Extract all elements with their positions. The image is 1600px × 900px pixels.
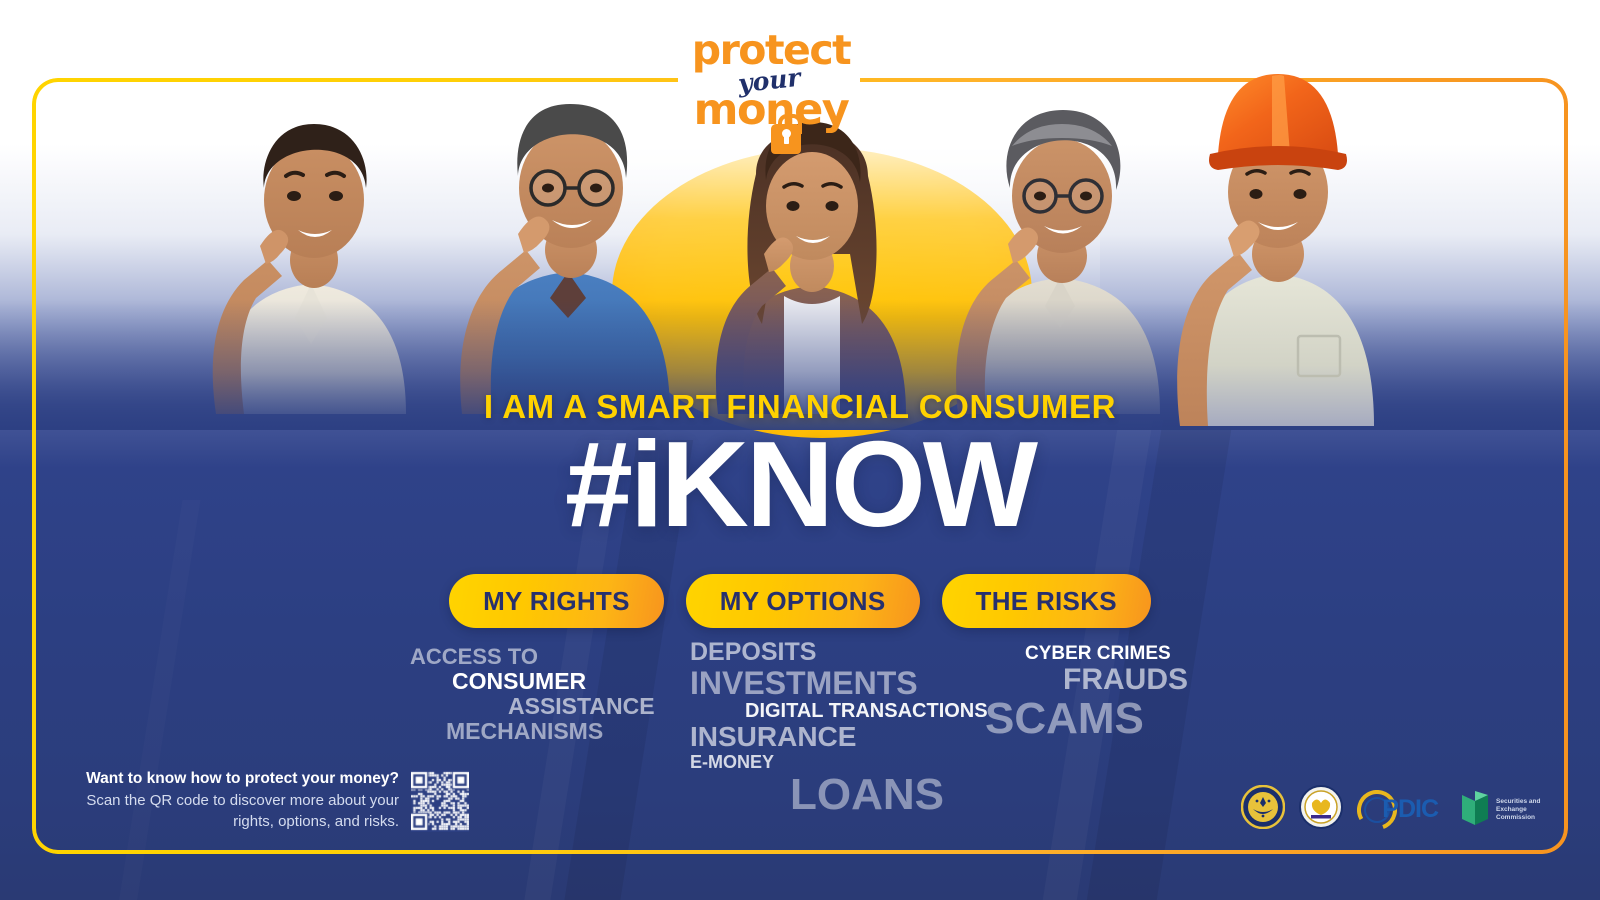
person-man-blue <box>428 64 698 414</box>
keyword: CONSUMER <box>452 670 660 693</box>
insurance-commission-seal <box>1299 785 1343 834</box>
pill-my-rights[interactable]: MY RIGHTS <box>449 574 664 628</box>
pdic-wordmark: PDIC <box>1382 795 1438 824</box>
sec-wordmark: Securities and Exchange Commission <box>1496 798 1542 822</box>
my-rights-words: ACCESS TOCONSUMERASSISTANCEMECHANISMS <box>410 646 660 745</box>
keyword: ACCESS TO <box>410 646 660 668</box>
qr-call-to-action: Want to know how to protect your money? … <box>64 768 469 832</box>
pdic-logo: PDIC <box>1357 790 1438 830</box>
poster-canvas: protect your money I AM A SMART FINANCIA… <box>0 0 1600 900</box>
cta-instruction: Scan the QR code to discover more about … <box>64 790 399 832</box>
sec-logo: Securities and Exchange Commission <box>1458 791 1542 829</box>
keyword: INSURANCE <box>690 723 960 751</box>
keyword: INVESTMENTS <box>690 667 960 699</box>
keyword: CYBER CRIMES <box>1025 644 1200 663</box>
keyword: LOANS <box>790 773 960 817</box>
pill-the-risks[interactable]: THE RISKS <box>942 574 1151 628</box>
the-risks-words: CYBER CRIMESFRAUDSSCAMS <box>985 644 1200 743</box>
keyword: ASSISTANCE <box>508 695 660 718</box>
keyword: MECHANISMS <box>446 720 660 743</box>
agency-logo-row: PDIC Securities and Exchange Commission <box>1241 785 1542 834</box>
keyword: FRAUDS <box>1063 665 1200 695</box>
padlock-icon <box>771 124 801 154</box>
bsp-seal <box>1241 785 1285 834</box>
category-pill-group: MY RIGHTS MY OPTIONS THE RISKS <box>0 574 1600 628</box>
keyword: E-MONEY <box>690 753 960 771</box>
keyword: DIGITAL TRANSACTIONS <box>745 701 960 721</box>
my-options-words: DEPOSITSINVESTMENTSDIGITAL TRANSACTIONSI… <box>690 640 960 819</box>
keyword-cloud: ACCESS TOCONSUMERASSISTANCEMECHANISMS DE… <box>0 640 1600 765</box>
pill-my-options[interactable]: MY OPTIONS <box>686 574 920 628</box>
page-title-hashtag: #iKNOW <box>0 424 1600 544</box>
person-woman-beige <box>186 84 436 414</box>
qr-code-bitmap <box>411 770 469 832</box>
qr-code[interactable] <box>411 770 469 832</box>
cta-question: Want to know how to protect your money? <box>64 768 399 790</box>
person-older-woman <box>928 74 1188 414</box>
keyword: SCAMS <box>985 697 1200 741</box>
person-construction-worker <box>1152 36 1402 426</box>
keyword: DEPOSITS <box>690 640 960 665</box>
campaign-logo: protect your money <box>676 28 866 148</box>
cta-text-block: Want to know how to protect your money? … <box>64 768 399 832</box>
